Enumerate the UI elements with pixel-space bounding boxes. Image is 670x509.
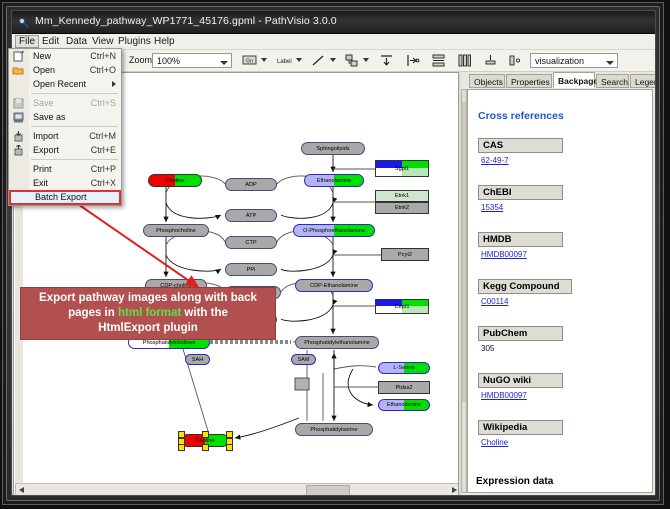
datanode-tool-button[interactable]: Gn: [241, 52, 258, 69]
file-menu-new-accel: Ctrl+N: [90, 49, 116, 63]
pathway-node-phosphocholine[interactable]: Phosphocholine: [143, 224, 209, 237]
xref-pubchem: PubChem 305: [478, 326, 563, 353]
pathway-node-adp[interactable]: ADP: [225, 178, 277, 191]
menu-plugins[interactable]: Plugins: [114, 35, 155, 48]
pathway-node-pcyt2[interactable]: Pcyt2: [381, 248, 429, 261]
cross-references-title: Cross references: [478, 110, 564, 122]
tab-objects[interactable]: Objects: [469, 74, 505, 88]
pathway-node-ctp[interactable]: CTP: [225, 236, 277, 249]
pathway-node-atp[interactable]: ATP: [225, 209, 277, 222]
datanode-dropdown-icon[interactable]: [261, 58, 267, 62]
save-disk-icon: [12, 98, 25, 109]
visualization-value: visualization: [535, 56, 584, 66]
line-tool-button[interactable]: [310, 52, 327, 69]
same-width-button[interactable]: [456, 52, 473, 69]
pathway-node-ophosphoethanolamine[interactable]: O-Phosphoethanolamine: [293, 224, 375, 237]
scroll-right-icon[interactable]: [452, 487, 457, 493]
label-tool-button[interactable]: Label: [276, 52, 293, 69]
file-menu-print-accel: Ctrl+P: [91, 162, 116, 176]
xref-source-label: Kegg Compound: [478, 279, 572, 294]
zoom-value: 100%: [157, 56, 180, 66]
pathway-node-sphingolipids[interactable]: Sphingolipids: [301, 142, 365, 155]
file-menu-exit-accel: Ctrl+X: [91, 176, 116, 190]
xref-value-link[interactable]: 62-49-7: [478, 156, 563, 165]
label-dropdown-icon[interactable]: [296, 58, 302, 62]
pathway-node-sam[interactable]: SAM: [291, 354, 316, 365]
callout-line2-b: with the: [181, 307, 228, 319]
export-icon: [12, 145, 25, 156]
node-label: SAM: [297, 357, 309, 363]
hscroll-thumb[interactable]: [306, 485, 350, 496]
pathway-node-cdp_ethanolamine[interactable]: CDP-Ethanolamine: [295, 279, 373, 292]
xref-hmdb: HMDB HMDB00097: [478, 232, 563, 259]
xref-value-link[interactable]: Choline: [478, 438, 563, 447]
side-panel-tabs: Objects Properties Backpage Search Legen…: [461, 72, 656, 89]
file-menu-export-accel: Ctrl+E: [91, 143, 116, 157]
xref-chebi: ChEBI 15354: [478, 185, 563, 212]
node-label: CDP-Ethanolamine: [310, 283, 358, 289]
canvas-hscrollbar[interactable]: [15, 483, 459, 496]
node-label: O-Phosphoethanolamine: [303, 228, 365, 234]
file-menu-open-accel: Ctrl+O: [90, 63, 116, 77]
callout-banner: Export pathway images along with back pa…: [20, 287, 276, 340]
callout-line-2: pages in html format with the: [68, 306, 228, 321]
menu-help[interactable]: Help: [150, 35, 179, 48]
xref-kegg-compound: Kegg Compound C00114: [478, 279, 572, 306]
align-top-button[interactable]: [378, 52, 395, 69]
node-label: Ethanolamine: [387, 402, 421, 408]
file-menu-exit[interactable]: Exit Ctrl+X: [9, 176, 121, 190]
node-label: Ethanolamine: [317, 178, 351, 184]
screenshot-root: Mm_Kennedy_pathway_WP1771_45176.gpml - P…: [0, 0, 670, 509]
zoom-label: Zoom:: [129, 55, 155, 65]
menu-file[interactable]: File: [15, 35, 39, 48]
xref-source-label: PubChem: [478, 326, 563, 341]
node-label: Phosphatidylethanolamine: [304, 340, 370, 346]
node-label: Choline: [196, 438, 215, 444]
distribute-vertical-button[interactable]: [430, 52, 447, 69]
open-folder-icon: [12, 65, 25, 76]
pathway-node-ppi[interactable]: PPi: [225, 263, 277, 276]
backpage-content: Cross references CAS 62-49-7 ChEBI 15354…: [467, 89, 653, 493]
node-label: CTP: [245, 240, 256, 246]
stack-button[interactable]: [482, 52, 499, 69]
xref-source-label: ChEBI: [478, 185, 563, 200]
selection-handle[interactable]: [178, 444, 185, 451]
xref-value-link[interactable]: HMDB00097: [478, 391, 563, 400]
save-as-icon: [12, 112, 25, 123]
xref-source-label: HMDB: [478, 232, 563, 247]
xref-value-link[interactable]: C00114: [478, 297, 572, 306]
node-label: Phosphocholine: [156, 228, 196, 234]
svg-text:Gn: Gn: [246, 59, 253, 65]
shape-dropdown-icon[interactable]: [363, 58, 369, 62]
callout-line-1: Export pathway images along with back: [39, 291, 257, 306]
file-menu-open-recent[interactable]: Open Recent: [9, 77, 121, 91]
tab-legend[interactable]: Legend: [630, 74, 656, 88]
node-label: SAH: [192, 357, 204, 363]
xref-source-label: Wikipedia: [478, 420, 563, 435]
xref-cas: CAS 62-49-7: [478, 138, 563, 165]
node-label: Pcyt2: [398, 252, 412, 258]
selection-handle[interactable]: [226, 444, 233, 451]
node-label: Phosphatidylcholines: [143, 340, 196, 346]
pathway-node-phosphatidylserine[interactable]: Phosphatidylserine: [295, 423, 373, 436]
file-menu-save: Save Ctrl+S: [9, 96, 121, 110]
file-menu-print-label: Print: [33, 162, 52, 176]
pathway-node-sgpl1[interactable]: Sgpl1: [375, 160, 429, 177]
xref-value: 305: [478, 344, 563, 353]
file-menu-export-label: Export: [33, 143, 59, 157]
pathway-node-sah[interactable]: SAH: [185, 354, 210, 365]
selection-handle[interactable]: [202, 444, 209, 451]
xref-source-label: NuGO wiki: [478, 373, 563, 388]
pathway-node-phosphatidylethanolamine[interactable]: Phosphatidylethanolamine: [295, 336, 379, 349]
pathway-node-lserine[interactable]: L-Serine: [378, 362, 430, 374]
menu-edit[interactable]: Edit: [38, 35, 63, 48]
file-menu-import-accel: Ctrl+M: [89, 129, 116, 143]
xref-wikipedia: Wikipedia Choline: [478, 420, 563, 447]
pathway-node-cept1[interactable]: Cept1: [375, 299, 429, 314]
side-panel: Objects Properties Backpage Search Legen…: [461, 72, 656, 496]
file-menu-batch-export-label: Batch Export: [35, 192, 87, 203]
node-label: Sgpl1: [395, 166, 409, 172]
visualization-combo[interactable]: visualization: [530, 53, 618, 68]
xref-value-link[interactable]: HMDB00097: [478, 250, 563, 259]
pathway-node-ethanolamine_top[interactable]: Ethanolamine: [304, 174, 364, 187]
file-menu-exit-label: Exit: [33, 176, 48, 190]
window-title: Mm_Kennedy_pathway_WP1771_45176.gpml - P…: [35, 15, 337, 27]
shape-tool-button[interactable]: [343, 52, 360, 69]
pathway-node-choline_top[interactable]: Choline: [148, 174, 202, 187]
menu-data[interactable]: Data: [62, 35, 91, 48]
callout-line-3: HtmlExport plugin: [98, 321, 198, 336]
file-menu-save-as[interactable]: Save as: [9, 110, 121, 124]
tab-properties[interactable]: Properties: [506, 74, 552, 88]
xref-nugo-wiki: NuGO wiki HMDB00097: [478, 373, 563, 400]
file-menu-new-label: New: [33, 49, 51, 63]
import-icon: [12, 131, 25, 142]
xref-value-link[interactable]: 15354: [478, 203, 563, 212]
node-label: Ptdss2: [395, 385, 412, 391]
zoom-combo[interactable]: 100%: [152, 53, 232, 68]
file-menu-batch-export[interactable]: Batch Export: [9, 190, 121, 205]
xref-source-label: CAS: [478, 138, 563, 153]
node-label: Etnk1: [395, 193, 409, 199]
group-button[interactable]: [506, 52, 523, 69]
chevron-down-icon: [606, 61, 614, 65]
align-left-button[interactable]: [404, 52, 421, 69]
chevron-down-icon: [220, 61, 228, 65]
pathway-node-ethanolamine_low[interactable]: Ethanolamine: [378, 399, 430, 411]
node-label: ADP: [245, 182, 257, 188]
file-menu-print[interactable]: Print Ctrl+P: [9, 162, 121, 176]
new-document-icon: [12, 51, 25, 62]
tab-backpage[interactable]: Backpage: [553, 72, 595, 88]
submenu-arrow-icon: [112, 81, 116, 87]
node-label: L-Serine: [393, 365, 414, 371]
tab-search[interactable]: Search: [596, 74, 629, 88]
label-tool-text: Label: [277, 59, 292, 65]
side-scroll-thumb[interactable]: [462, 102, 466, 402]
pathvisio-icon: [18, 16, 30, 28]
file-menu-import-label: Import: [33, 129, 59, 143]
file-menu-import[interactable]: Import Ctrl+M: [9, 129, 121, 143]
file-menu-new[interactable]: New Ctrl+N: [9, 49, 121, 63]
node-label: Phosphatidylserine: [310, 427, 357, 433]
pathway-node-etnk1[interactable]: Etnk1: [375, 190, 429, 202]
expression-data-title: Expression data: [476, 476, 553, 487]
line-dropdown-icon[interactable]: [330, 58, 336, 62]
file-menu-popup[interactable]: New Ctrl+N Open Ctrl+O Open Recent Save …: [8, 48, 122, 206]
node-label: Sphingolipids: [316, 146, 349, 152]
node-label: Cept1: [395, 304, 410, 310]
node-label: ATP: [246, 213, 256, 219]
file-menu-save-accel: Ctrl+S: [91, 96, 116, 110]
callout-line2-highlight: html format: [118, 307, 181, 319]
file-menu-open-label: Open: [33, 63, 55, 77]
scroll-left-icon[interactable]: [19, 487, 24, 493]
node-label: Etnk2: [395, 205, 409, 211]
node-label: PPi: [247, 267, 256, 273]
file-menu-save-label: Save: [33, 96, 54, 110]
selection-handle[interactable]: [202, 431, 209, 438]
pathway-node-ptdss2[interactable]: Ptdss2: [378, 381, 430, 394]
callout-line2-a: pages in: [68, 307, 118, 319]
file-menu-open-recent-label: Open Recent: [33, 77, 86, 91]
pathway-node-etnk2[interactable]: Etnk2: [375, 202, 429, 214]
title-bar: Mm_Kennedy_pathway_WP1771_45176.gpml - P…: [12, 11, 655, 34]
file-menu-save-as-label: Save as: [33, 110, 66, 124]
file-menu-export[interactable]: Export Ctrl+E: [9, 143, 121, 157]
file-menu-open[interactable]: Open Ctrl+O: [9, 63, 121, 77]
node-label: Choline: [166, 178, 185, 184]
